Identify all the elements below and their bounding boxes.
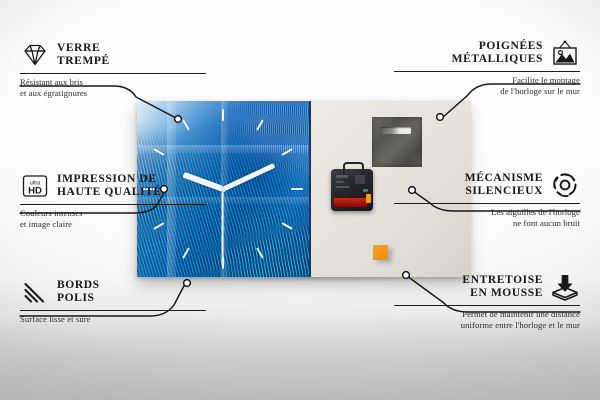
mechanism-indicator xyxy=(363,189,368,192)
callout-entretoise-en-mousse: ENTRETOISE EN MOUSSE Permet de maintenir… xyxy=(394,272,580,331)
callout-title-line2: POLIS xyxy=(57,292,100,305)
callout-subtitle-line2: et aux égratignures xyxy=(20,88,206,99)
hands-center-cap xyxy=(221,187,226,192)
callout-header: POIGNÉES MÉTALLIQUES xyxy=(394,38,580,68)
callout-divider xyxy=(394,71,580,72)
callout-divider xyxy=(394,305,580,306)
mechanism-hanging-loop xyxy=(343,162,364,174)
diamond-icon xyxy=(20,42,50,68)
callout-title-line2: MÉTALLIQUES xyxy=(452,53,543,66)
callout-mecanisme-silencieux: MÉCANISME SILENCIEUX Les aiguilles de l'… xyxy=(394,170,580,229)
callout-subtitle-line1: Facilite le montage xyxy=(394,75,580,86)
callout-subtitle-line2: uniforme entre l'horloge et le mur xyxy=(394,320,580,331)
mechanism-detail xyxy=(336,175,348,178)
mechanism-detail xyxy=(336,186,350,188)
callout-title: IMPRESSION DE HAUTE QUALITÉ xyxy=(57,173,162,200)
callout-title: MÉCANISME SILENCIEUX xyxy=(465,172,543,199)
second-hand xyxy=(222,189,224,265)
callout-divider xyxy=(394,203,580,204)
callout-verre-trempe: VERRE TREMPÉ Résistant aux bris et aux é… xyxy=(20,40,206,99)
gear-icon xyxy=(550,171,580,199)
callout-title: POIGNÉES MÉTALLIQUES xyxy=(452,40,543,67)
quartz-mechanism xyxy=(331,169,373,211)
svg-text:HD: HD xyxy=(28,186,42,197)
callout-subtitle: Résistant aux bris et aux égratignures xyxy=(20,77,206,99)
battery-positive-terminal xyxy=(366,194,371,203)
callout-title: BORDS POLIS xyxy=(57,279,100,306)
callout-divider xyxy=(20,204,206,205)
callout-title-line1: MÉCANISME xyxy=(465,172,543,185)
callout-divider xyxy=(20,310,206,311)
callout-header: ultra HD IMPRESSION DE HAUTE QUALITÉ xyxy=(20,171,206,201)
callout-subtitle: Permet de maintenir une distance uniform… xyxy=(394,309,580,331)
callout-subtitle: Les aiguilles de l'horloge ne font aucun… xyxy=(394,207,580,229)
callout-subtitle-line1: Surface lisse et sûre xyxy=(20,314,206,325)
clock-tick xyxy=(291,188,303,190)
mechanism-detail xyxy=(336,181,344,183)
metal-hanger-plate-icon xyxy=(372,117,422,167)
callout-header: ENTRETOISE EN MOUSSE xyxy=(394,272,580,302)
mechanism-detail xyxy=(355,175,365,184)
product-infographic-scene: VERRE TREMPÉ Résistant aux bris et aux é… xyxy=(0,0,600,400)
callout-title-line2: SILENCIEUX xyxy=(465,185,543,198)
foam-spacer-pad xyxy=(373,245,388,260)
callout-title-line1: VERRE xyxy=(57,42,110,55)
callout-title-line2: EN MOUSSE xyxy=(462,287,543,300)
callout-subtitle-line1: Les aiguilles de l'horloge xyxy=(394,207,580,218)
callout-title-line2: HAUTE QUALITÉ xyxy=(57,186,162,199)
callout-header: VERRE TREMPÉ xyxy=(20,40,206,70)
callout-subtitle: Facilite le montage de l'horloge sur le … xyxy=(394,75,580,97)
callout-title: ENTRETOISE EN MOUSSE xyxy=(462,274,543,301)
callout-bords-polis: BORDS POLIS Surface lisse et sûre xyxy=(20,277,206,325)
callout-title-line1: POIGNÉES xyxy=(452,40,543,53)
callout-impression-haute-qualite: ultra HD IMPRESSION DE HAUTE QUALITÉ Cou… xyxy=(20,171,206,230)
callout-title-line2: TREMPÉ xyxy=(57,55,110,68)
callout-subtitle-line1: Couleurs intenses xyxy=(20,208,206,219)
callout-divider xyxy=(20,73,206,74)
ultra-hd-icon: ultra HD xyxy=(20,173,50,199)
callout-subtitle-line2: et image claire xyxy=(20,219,206,230)
callout-poignees-metalliques: POIGNÉES MÉTALLIQUES Facilite le montage… xyxy=(394,38,580,97)
battery xyxy=(334,198,367,207)
callout-subtitle: Surface lisse et sûre xyxy=(20,314,206,325)
callout-title-line1: ENTRETOISE xyxy=(462,274,543,287)
picture-hanger-icon xyxy=(550,40,580,67)
hanger-keyhole-slot xyxy=(381,127,411,134)
callout-subtitle: Couleurs intenses et image claire xyxy=(20,208,206,230)
callout-subtitle-line2: de l'horloge sur le mur xyxy=(394,86,580,97)
callout-subtitle-line1: Résistant aux bris xyxy=(20,77,206,88)
callout-header: MÉCANISME SILENCIEUX xyxy=(394,170,580,200)
callout-subtitle-line1: Permet de maintenir une distance xyxy=(394,309,580,320)
callout-header: BORDS POLIS xyxy=(20,277,206,307)
polished-edges-icon xyxy=(20,279,50,305)
callout-title-line1: IMPRESSION DE xyxy=(57,173,162,186)
foam-spacer-icon xyxy=(550,273,580,301)
callout-title: VERRE TREMPÉ xyxy=(57,42,110,69)
callout-title-line1: BORDS xyxy=(57,279,100,292)
clock-tick xyxy=(222,109,224,121)
callout-subtitle-line2: ne font aucun bruit xyxy=(394,218,580,229)
